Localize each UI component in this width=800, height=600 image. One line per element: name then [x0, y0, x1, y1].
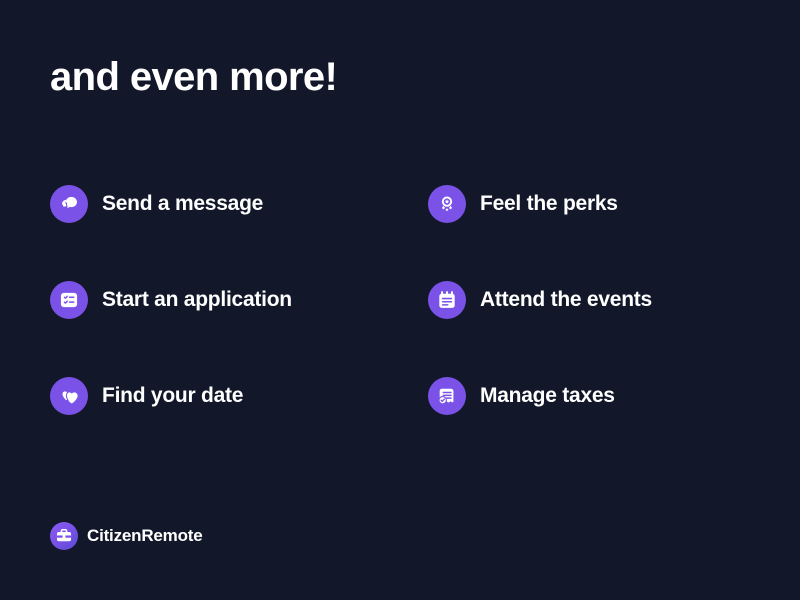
feature-grid: Send a message Feel the perks	[50, 185, 750, 473]
slide-canvas: and even more! Send a message	[0, 0, 800, 600]
two-hearts-icon	[50, 377, 88, 415]
citizenremote-briefcase-logo-icon	[50, 522, 78, 550]
award-medal-icon	[428, 185, 466, 223]
feature-label: Manage taxes	[480, 383, 615, 409]
feature-item-find-your-date[interactable]: Find your date	[50, 377, 243, 415]
feature-item-attend-the-events[interactable]: Attend the events	[428, 281, 652, 319]
feature-item-send-a-message[interactable]: Send a message	[50, 185, 263, 223]
receipt-check-icon	[428, 377, 466, 415]
feature-label: Start an application	[102, 287, 292, 313]
feature-item-start-an-application[interactable]: Start an application	[50, 281, 292, 319]
calendar-icon	[428, 281, 466, 319]
brand-logo[interactable]: CitizenRemote	[50, 522, 202, 550]
feature-label: Find your date	[102, 383, 243, 409]
page-title: and even more!	[50, 52, 337, 102]
chat-bubbles-icon	[50, 185, 88, 223]
feature-label: Feel the perks	[480, 191, 618, 217]
feature-item-manage-taxes[interactable]: Manage taxes	[428, 377, 615, 415]
checklist-form-icon	[50, 281, 88, 319]
feature-item-feel-the-perks[interactable]: Feel the perks	[428, 185, 618, 223]
feature-label: Send a message	[102, 191, 263, 217]
brand-name: CitizenRemote	[87, 526, 202, 546]
feature-label: Attend the events	[480, 287, 652, 313]
